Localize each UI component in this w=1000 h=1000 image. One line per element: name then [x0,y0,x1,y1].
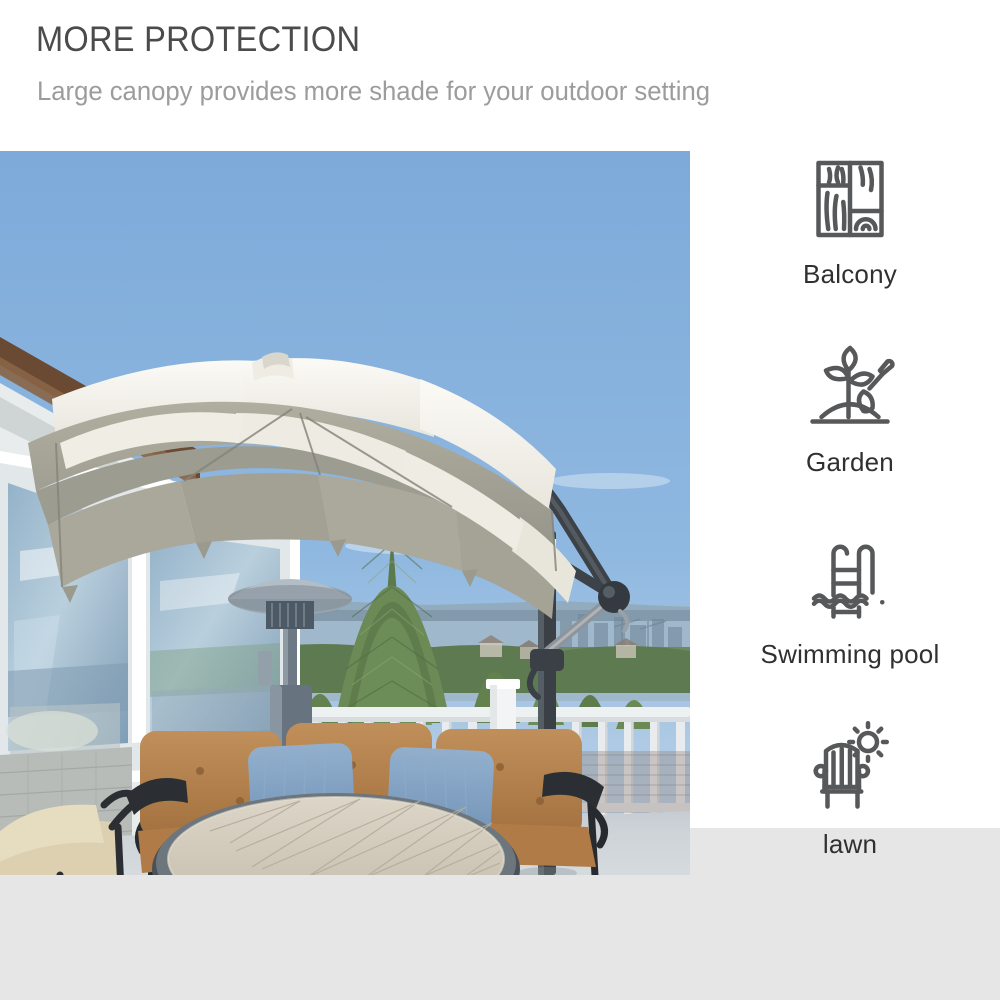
page-subtitle: Large canopy provides more shade for you… [37,76,710,107]
page-title: MORE PROTECTION [36,20,360,60]
promo-page: MORE PROTECTION Large canopy provides mo… [0,0,1000,1000]
feature-label-garden: Garden [806,447,894,478]
pool-ladder-icon [802,531,898,627]
plant-trowel-icon [802,339,898,435]
lawn-chair-sun-icon [802,721,898,817]
decking-icon [802,151,898,247]
feature-label-balcony: Balcony [803,259,897,290]
feature-label-lawn: lawn [823,829,877,860]
feature-list: Balcony Garden [700,151,1000,891]
feature-item-balcony: Balcony [700,151,1000,290]
product-photo [0,151,690,875]
feature-item-lawn: lawn [700,721,1000,860]
feature-item-garden: Garden [700,339,1000,478]
feature-item-swimming-pool: Swimming pool [700,531,1000,670]
header: MORE PROTECTION Large canopy provides mo… [0,0,1000,150]
feature-label-swimming-pool: Swimming pool [761,639,940,670]
